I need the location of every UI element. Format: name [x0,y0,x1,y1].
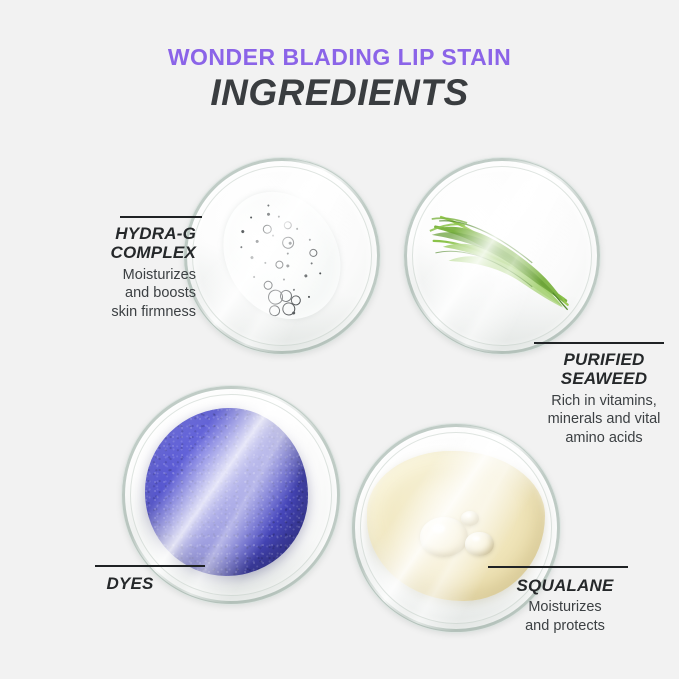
callout-desc-line1: Rich in vitamins, [520,392,679,411]
dish-glass-highlight [185,159,379,353]
blue-dye-powder [145,408,309,576]
petri-dish-hydra-g-complex [184,158,380,354]
callout-description: Moisturizes and protects [470,598,660,635]
callout-desc-line2: and boosts [0,284,196,303]
callout-desc-line1: Moisturizes [0,266,196,285]
leader-line-icon [488,566,628,568]
dish-glass-highlight [123,387,339,603]
callout-title-line1: HYDRA-G [0,224,196,243]
callout-dyes: DYES [40,574,220,593]
poster-canvas: WONDER BLADING LIP STAIN INGREDIENTS [0,0,679,679]
callout-hydra-g-complex: HYDRA-G COMPLEX Moisturizes and boosts s… [0,224,196,321]
dish-rim-shading [184,158,380,354]
oil-droplet-medium [465,532,494,556]
dish-rim-shading [404,158,600,354]
callout-desc-line2: minerals and vital [520,410,679,429]
callout-desc-line1: Moisturizes [470,598,660,617]
leader-line-icon [120,216,202,218]
dish-rim-shading [122,386,340,604]
callout-desc-line2: and protects [470,617,660,636]
callout-title-line1: SQUALANE [470,576,660,595]
oil-droplet-small [461,511,479,526]
brand-title: WONDER BLADING LIP STAIN [0,44,679,71]
callout-description: Rich in vitamins, minerals and vital ami… [520,392,679,448]
callout-title-line1: PURIFIED [520,350,679,369]
petri-dish-dyes [122,386,340,604]
petri-dish-purified-seaweed [404,158,600,354]
callout-desc-line3: amino acids [520,429,679,448]
oil-droplet-large [420,517,468,557]
callout-desc-line3: skin firmness [0,303,196,322]
callout-title: DYES [40,574,220,593]
gel-blob [200,170,364,341]
gel-bubbles [200,170,364,341]
dish-glass-highlight [405,159,599,353]
seaweed-illustration [428,201,577,311]
callout-title-line2: SEAWEED [520,369,679,388]
callout-title: SQUALANE [470,576,660,595]
callout-squalane: SQUALANE Moisturizes and protects [470,576,660,635]
callout-title: HYDRA-G COMPLEX [0,224,196,263]
leader-line-icon [95,565,205,567]
leader-line-icon [534,342,664,344]
page-title: INGREDIENTS [0,72,679,114]
callout-purified-seaweed: PURIFIED SEAWEED Rich in vitamins, miner… [520,350,679,447]
callout-title-line2: COMPLEX [0,243,196,262]
callout-title: PURIFIED SEAWEED [520,350,679,389]
callout-description: Moisturizes and boosts skin firmness [0,266,196,322]
powder-grain-texture [145,408,309,576]
callout-title-line1: DYES [40,574,220,593]
